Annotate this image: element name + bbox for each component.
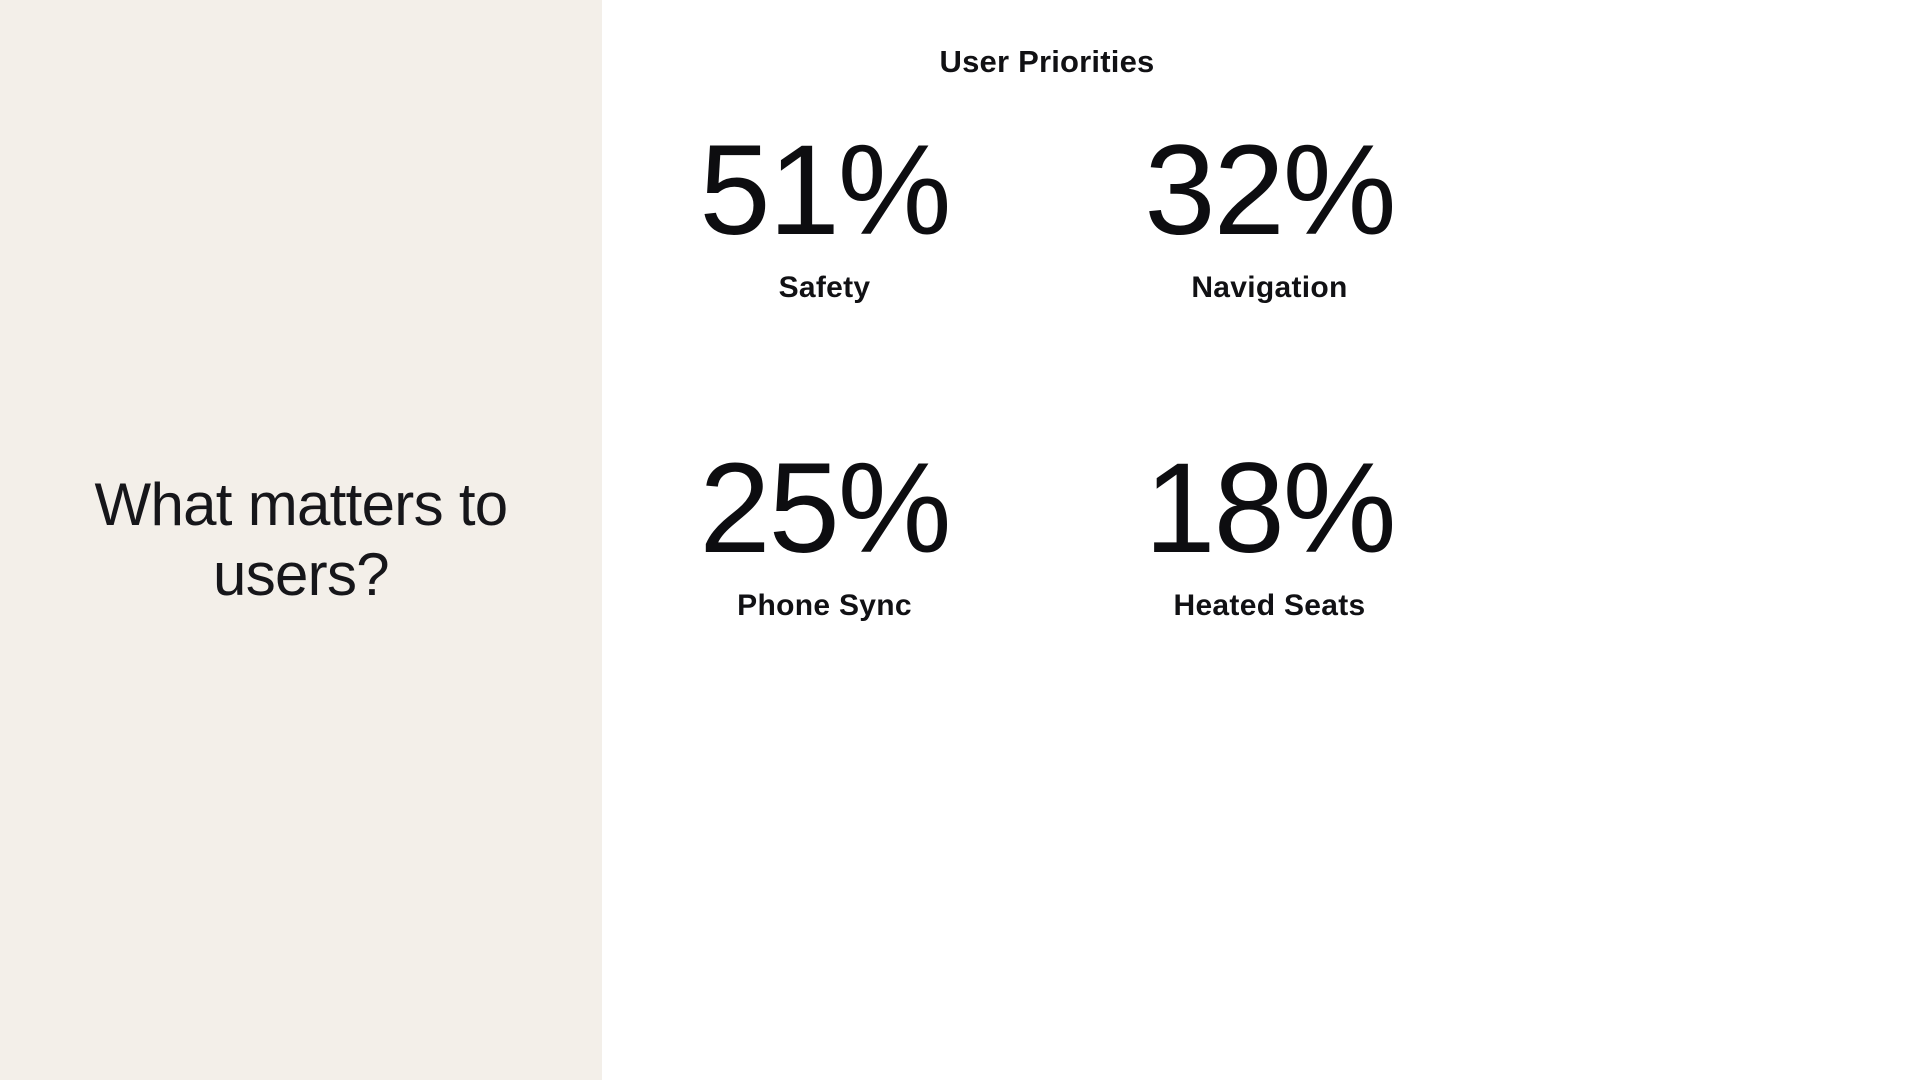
stat-value: 25%: [699, 444, 949, 575]
stat-card-safety: 51% Safety: [602, 120, 1047, 438]
slide-question: What matters to users?: [66, 470, 536, 610]
slide-root: What matters to users? User Priorities 5…: [0, 0, 1920, 1080]
stat-label: Safety: [779, 271, 871, 305]
stats-grid: 51% Safety 32% Navigation 25% Phone Sync…: [602, 120, 1492, 756]
stat-label: Phone Sync: [737, 589, 912, 623]
stats-panel: User Priorities 51% Safety 32% Navigatio…: [602, 0, 1920, 1080]
left-question-panel: What matters to users?: [0, 0, 602, 1080]
stat-value: 32%: [1144, 126, 1394, 257]
chart-title: User Priorities: [602, 44, 1492, 80]
stat-card-navigation: 32% Navigation: [1047, 120, 1492, 438]
stat-value: 18%: [1144, 444, 1394, 575]
stat-card-phone-sync: 25% Phone Sync: [602, 438, 1047, 756]
stat-label: Heated Seats: [1173, 589, 1365, 623]
stat-label: Navigation: [1191, 271, 1347, 305]
stat-card-heated-seats: 18% Heated Seats: [1047, 438, 1492, 756]
stat-value: 51%: [699, 126, 949, 257]
